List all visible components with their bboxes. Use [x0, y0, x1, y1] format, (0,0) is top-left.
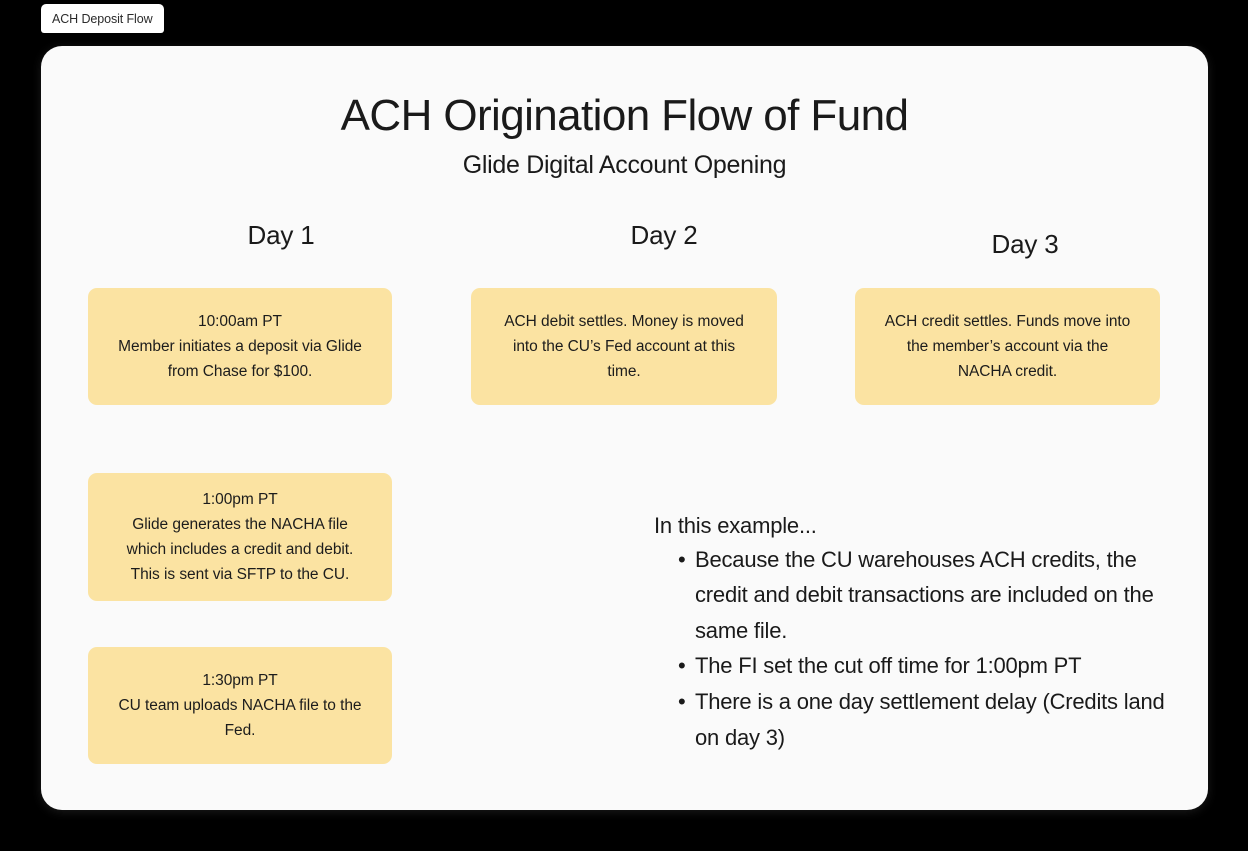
notes-block: In this example... • Because the CU ware… [654, 512, 1174, 755]
notes-item-text: There is a one day settlement delay (Cre… [695, 689, 1165, 750]
card-day2-step1-line3: time. [485, 359, 763, 384]
bullet-icon: • [678, 542, 686, 578]
list-item: • There is a one day settlement delay (C… [654, 684, 1174, 755]
notes-item-text: The FI set the cut off time for 1:00pm P… [695, 653, 1081, 678]
card-day1-step3-line2: CU team uploads NACHA file to the [102, 693, 378, 718]
column-header-day-3: Day 3 [943, 229, 1107, 260]
card-day1-step3: 1:30pm PT CU team uploads NACHA file to … [88, 647, 392, 764]
card-day1-step1-line2: Member initiates a deposit via Glide [102, 334, 378, 359]
card-day1-step2-line2: Glide generates the NACHA file [102, 512, 378, 537]
bullet-icon: • [678, 648, 686, 684]
card-day2-step1: ACH debit settles. Money is moved into t… [471, 288, 777, 405]
card-day1-step2-line3: which includes a credit and debit. [102, 537, 378, 562]
card-day2-step1-line2: into the CU’s Fed account at this [485, 334, 763, 359]
card-day1-step3-line1: 1:30pm PT [102, 668, 378, 693]
list-item: • Because the CU warehouses ACH credits,… [654, 542, 1174, 649]
card-day1-step1-line1: 10:00am PT [102, 309, 378, 334]
notes-heading: In this example... [654, 512, 1174, 540]
card-day3-step1-line1: ACH credit settles. Funds move into [869, 309, 1146, 334]
column-header-day-2: Day 2 [582, 220, 746, 251]
column-header-day-1: Day 1 [199, 220, 363, 251]
card-day2-step1-line1: ACH debit settles. Money is moved [485, 309, 763, 334]
card-day3-step1-line2: the member’s account via the [869, 334, 1146, 359]
card-day3-step1-line3: NACHA credit. [869, 359, 1146, 384]
page-title: ACH Origination Flow of Fund [41, 92, 1208, 140]
card-day3-step1: ACH credit settles. Funds move into the … [855, 288, 1160, 405]
bullet-icon: • [678, 684, 686, 720]
list-item: • The FI set the cut off time for 1:00pm… [654, 648, 1174, 684]
browser-tab-label: ACH Deposit Flow [52, 12, 153, 26]
browser-tab-ach-deposit-flow[interactable]: ACH Deposit Flow [41, 4, 164, 33]
card-day1-step2-line4: This is sent via SFTP to the CU. [102, 562, 378, 587]
card-day1-step2: 1:00pm PT Glide generates the NACHA file… [88, 473, 392, 601]
slide-canvas: ACH Origination Flow of Fund Glide Digit… [41, 46, 1208, 810]
browser-tab-strip: ACH Deposit Flow [0, 0, 1248, 38]
card-day1-step3-line3: Fed. [102, 718, 378, 743]
page-subtitle: Glide Digital Account Opening [41, 151, 1208, 180]
card-day1-step1-line3: from Chase for $100. [102, 359, 378, 384]
notes-list: • Because the CU warehouses ACH credits,… [654, 542, 1174, 756]
card-day1-step2-line1: 1:00pm PT [102, 487, 378, 512]
card-day1-step1: 10:00am PT Member initiates a deposit vi… [88, 288, 392, 405]
notes-item-text: Because the CU warehouses ACH credits, t… [695, 547, 1154, 643]
